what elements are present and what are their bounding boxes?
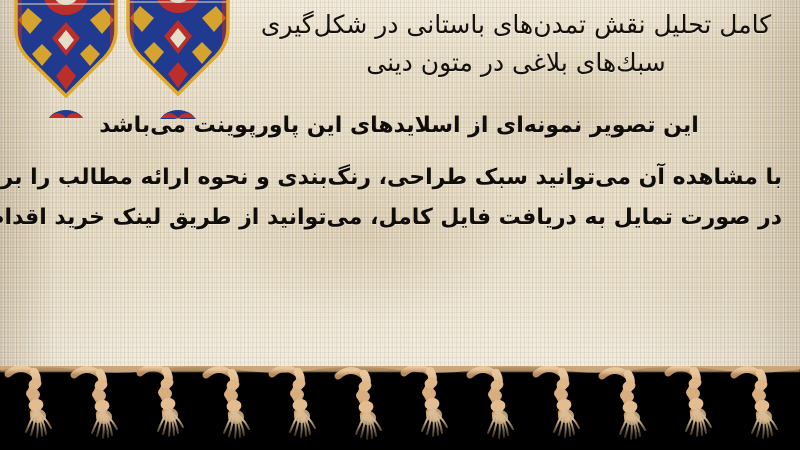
carpet-fringe — [0, 366, 800, 450]
slide-title-line-1: کامل تحلیل نقش تمدن‌های باستانی در شکل‌گ… — [246, 6, 786, 44]
tassel-fringe-icon — [0, 366, 800, 450]
presentation-slide: کامل تحلیل نقش تمدن‌های باستانی در شکل‌گ… — [0, 0, 800, 450]
slide-title-line-2: سبك‌های بلاغی در متون دینی — [246, 44, 786, 82]
body-line-1: این تصویر نمونه‌ای از اسلایدهای این پاور… — [16, 106, 782, 146]
body-line-3: در صورت تمایل به دریافت فایل کامل، می‌تو… — [16, 198, 782, 238]
slide-title: کامل تحلیل نقش تمدن‌های باستانی در شکل‌گ… — [246, 6, 786, 82]
body-line-2: با مشاهده آن می‌توانید سبک طراحی، رنگ‌بن… — [16, 158, 782, 198]
slide-body-text: این تصویر نمونه‌ای از اسلایدهای این پاور… — [16, 106, 782, 238]
